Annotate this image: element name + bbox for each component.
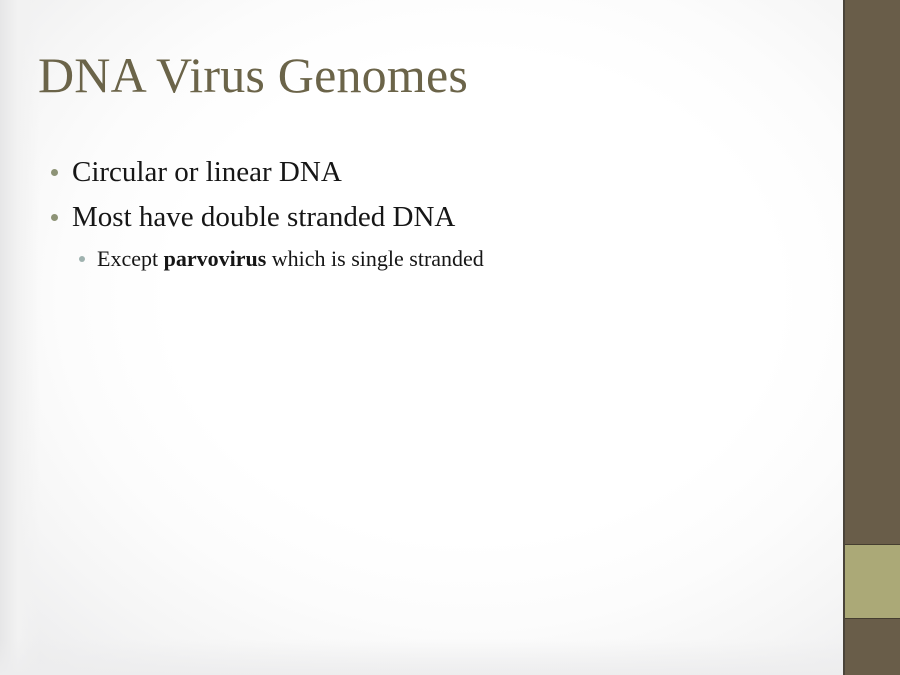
sidebar-band-divider-upper [845,544,900,545]
sidebar-band-bottom [845,618,900,675]
bullet-dot-icon [51,169,58,176]
bullet-text: Circular or linear DNA [72,155,342,189]
bullet-dot-icon [51,214,58,221]
sub-bullet-text-after: which is single stranded [266,246,484,271]
sidebar-band-divider-lower [845,618,900,619]
sidebar-band-accent [845,545,900,618]
slide-decorative-sidebar [843,0,900,675]
bullet-text: Most have double stranded DNA [72,200,455,234]
slide-title: DNA Virus Genomes [38,44,818,106]
bullet-dot-cell [40,219,72,226]
sub-bullet-text-before: Except [97,246,164,271]
bullet-dot-cell [40,174,72,181]
sub-bullet-text: Except parvovirus which is single strand… [97,245,484,272]
sidebar-band-top [845,0,900,545]
sub-bullet-text-emphasis: parvovirus [164,246,267,271]
bullet-item-level1: Most have double stranded DNA [40,200,830,234]
bullet-item-level2: Except parvovirus which is single strand… [70,245,830,272]
presentation-slide: DNA Virus Genomes Circular or linear DNA… [0,0,900,675]
slide-body-content: Circular or linear DNA Most have double … [40,155,830,272]
sub-bullet-dot-icon [79,256,85,262]
sub-bullet-dot-cell [70,260,97,266]
bullet-item-level1: Circular or linear DNA [40,155,830,189]
